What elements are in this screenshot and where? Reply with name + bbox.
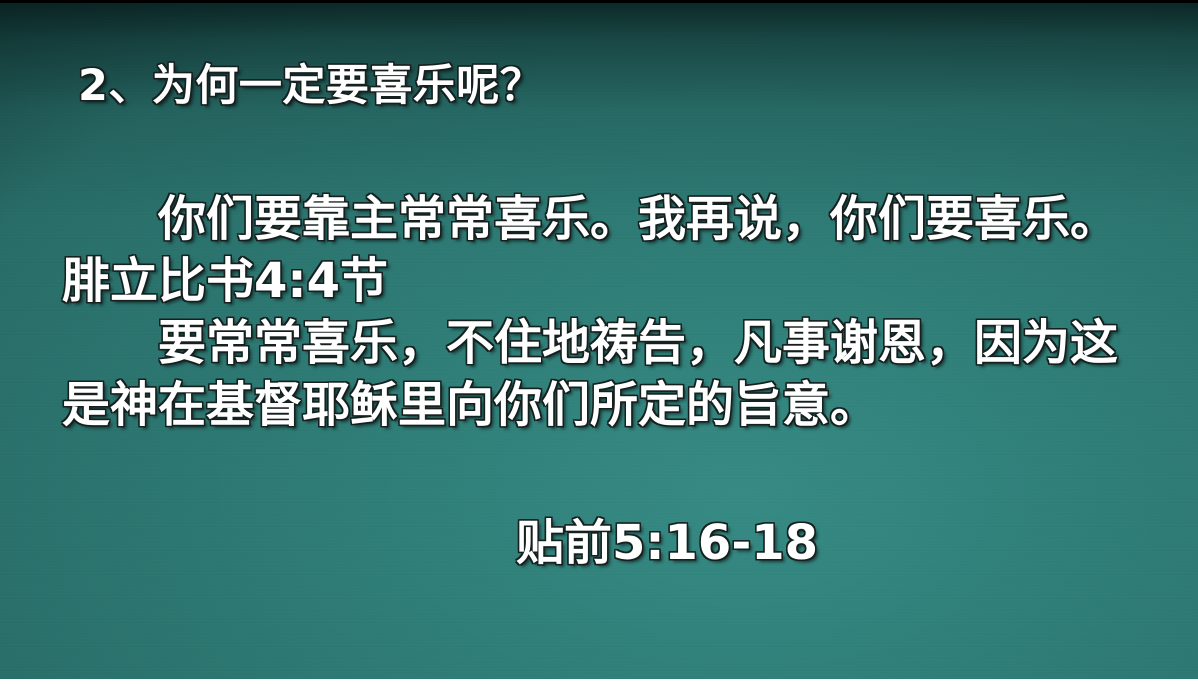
scripture-paragraph-thessalonians: 要常常喜乐，不住地祷告，凡事谢恩，因为这是神在基督耶稣里向你们所定的旨意。: [62, 312, 1152, 436]
slide-body-block: 你们要靠主常常喜乐。我再说，你们要喜乐。 腓立比书4:4节 要常常喜乐，不住地祷…: [62, 188, 1152, 436]
scripture-paragraph-philippians: 你们要靠主常常喜乐。我再说，你们要喜乐。 腓立比书4:4节: [62, 188, 1152, 312]
slide-title: 2、为何一定要喜乐呢？: [78, 58, 1138, 114]
scripture-citation: 贴前5:16-18: [516, 512, 818, 574]
top-edge-band: [0, 0, 1198, 3]
slide-title-block: 2、为何一定要喜乐呢？: [78, 58, 1138, 114]
presentation-slide: 2、为何一定要喜乐呢？ 你们要靠主常常喜乐。我再说，你们要喜乐。 腓立比书4:4…: [0, 0, 1198, 684]
slide-citation-block: 贴前5:16-18: [62, 512, 1152, 574]
bottom-edge-band: [0, 679, 1198, 684]
